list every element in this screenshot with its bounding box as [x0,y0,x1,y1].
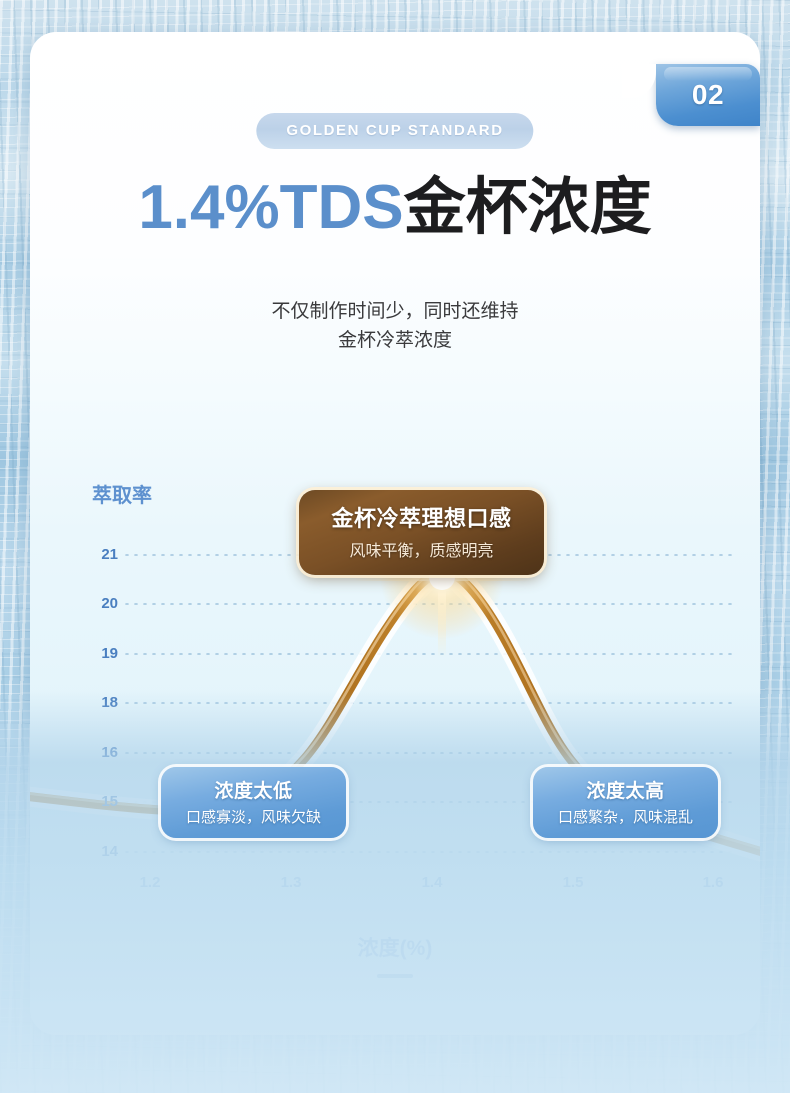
page-title: 1.4%TDS金杯浓度 [30,172,760,243]
page-subtitle: 不仅制作时间少，同时还维持 金杯冷萃浓度 [30,297,760,355]
headline-highlight: 1.4%TDS [138,173,403,242]
headline-rest: 金杯浓度 [404,173,652,242]
subtitle-line-1: 不仅制作时间少，同时还维持 [30,297,760,326]
page-root: GOLDEN CUP STANDARD 1.4%TDS金杯浓度 不仅制作时间少，… [0,0,790,1093]
content-card: GOLDEN CUP STANDARD 1.4%TDS金杯浓度 不仅制作时间少，… [30,32,760,1035]
y-tick-label-15: 15 [82,793,118,810]
x-axis-underline [377,974,413,978]
callout-too-high-title: 浓度太高 [547,776,704,803]
y-axis-title: 萃取率 [92,479,152,508]
x-tick-label-4: 1.5 [550,874,596,891]
x-tick-label-2: 1.3 [268,874,314,891]
callout-ideal-subtitle: 风味平衡，质感明亮 [315,537,528,561]
callout-too-high: 浓度太高 口感繁杂，风味混乱 [533,767,718,838]
callout-too-low-title: 浓度太低 [175,776,332,803]
callout-ideal-title: 金杯冷萃理想口感 [315,501,528,533]
callout-too-high-subtitle: 口感繁杂，风味混乱 [547,806,704,827]
callout-ideal: 金杯冷萃理想口感 风味平衡，质感明亮 [299,490,544,575]
y-tick-label-20: 20 [82,595,118,612]
x-tick-label-3: 1.4 [409,874,455,891]
x-tick-label-5: 1.6 [690,874,736,891]
extraction-chart: 萃取率 21 20 19 18 16 15 14 1.2 1.3 1.4 1.5… [30,462,760,1002]
section-number: 02 [692,79,724,111]
y-tick-label-21: 21 [82,546,118,563]
y-tick-label-14: 14 [82,843,118,860]
section-number-badge: 02 [656,64,760,126]
y-tick-label-18: 18 [82,694,118,711]
callout-too-low-subtitle: 口感寡淡，风味欠缺 [175,806,332,827]
eyebrow-badge: GOLDEN CUP STANDARD [256,113,533,149]
tab-notch [622,64,656,98]
callout-too-low: 浓度太低 口感寡淡，风味欠缺 [161,767,346,838]
x-axis-title: 浓度(%) [30,932,760,962]
subtitle-line-2: 金杯冷萃浓度 [30,326,760,355]
y-tick-label-19: 19 [82,645,118,662]
y-tick-label-16: 16 [82,744,118,761]
x-tick-label-1: 1.2 [127,874,173,891]
